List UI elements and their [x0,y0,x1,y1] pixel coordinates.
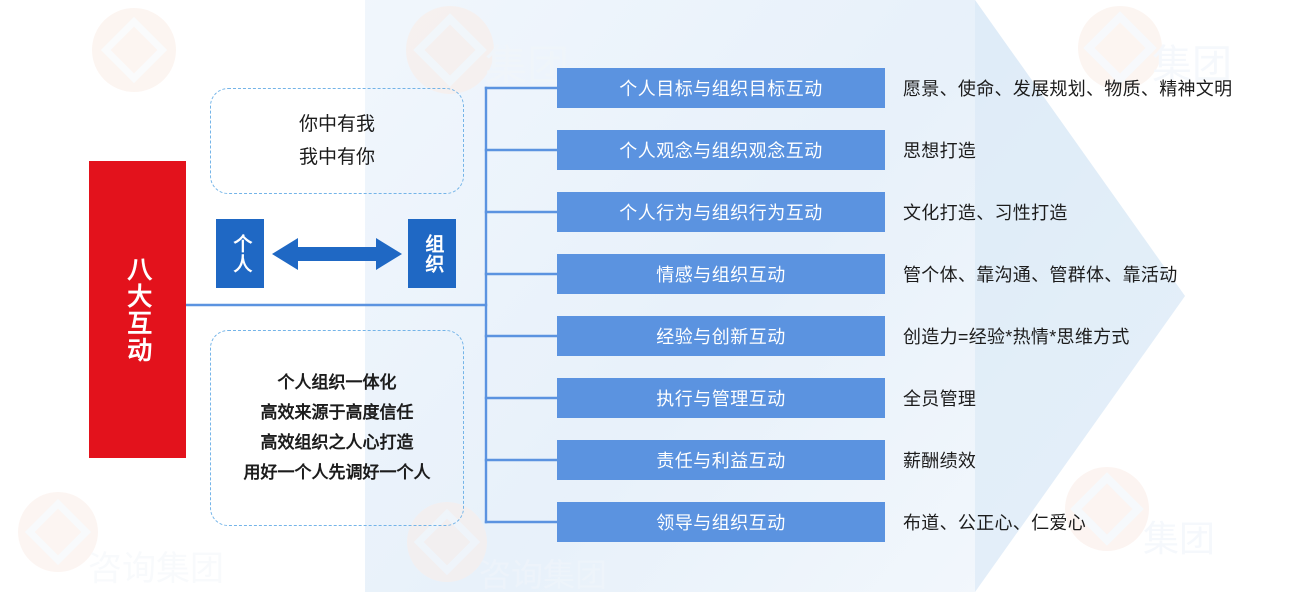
bottom-note-line-3: 高效组织之人心打造 [244,428,431,458]
entity-org-label: 组织 [421,234,444,274]
watermark-bottom-right: 集团 [1055,455,1300,605]
interaction-bar-5[interactable]: 经验与创新互动 [557,316,885,356]
interaction-bar-label: 个人行为与组织行为互动 [619,199,823,225]
svg-text:集团: 集团 [1143,518,1215,559]
interaction-note-6: 全员管理 [903,378,976,418]
interaction-bar-8[interactable]: 领导与组织互动 [557,502,885,542]
bottom-note-line-1: 个人组织一体化 [244,368,431,398]
interaction-note-3: 文化打造、习性打造 [903,192,1068,232]
interaction-bar-label: 领导与组织互动 [656,509,786,535]
interaction-bar-2[interactable]: 个人观念与组织观念互动 [557,130,885,170]
entity-person-box: 个人 [216,219,264,288]
interaction-bar-1[interactable]: 个人目标与组织目标互动 [557,68,885,108]
double-arrow-icon [272,236,402,272]
bottom-note-line-4: 用好一个人先调好一个人 [244,458,431,488]
interaction-bar-label: 执行与管理互动 [656,385,786,411]
interaction-bar-label: 责任与利益互动 [656,447,786,473]
interaction-note-8: 布道、公正心、仁爱心 [903,502,1086,542]
top-note-line-1: 你中有我 [299,108,375,141]
main-title-text: 八大互动 [122,256,153,364]
interaction-note-4: 管个体、靠沟通、管群体、靠活动 [903,254,1178,294]
interaction-bar-label: 情感与组织互动 [656,261,786,287]
interaction-bar-6[interactable]: 执行与管理互动 [557,378,885,418]
main-title-block: 八大互动 [89,161,186,458]
bottom-note-line-2: 高效来源于高度信任 [244,398,431,428]
interaction-bar-3[interactable]: 个人行为与组织行为互动 [557,192,885,232]
bottom-note-text: 个人组织一体化 高效来源于高度信任 高效组织之人心打造 用好一个人先调好一个人 [244,368,431,489]
watermark-top-left [88,4,208,124]
diagram-canvas: 集团 集团 咨询集团 咨询集团 集团 [0,0,1300,608]
interaction-note-7: 薪酬绩效 [903,440,976,480]
top-note-line-2: 我中有你 [299,141,375,174]
interaction-note-5: 创造力=经验*热情*思维方式 [903,316,1130,356]
interaction-bar-label: 经验与创新互动 [656,323,786,349]
bottom-note-box: 个人组织一体化 高效来源于高度信任 高效组织之人心打造 用好一个人先调好一个人 [210,330,464,526]
interaction-bar-label: 个人观念与组织观念互动 [619,137,823,163]
top-note-box: 你中有我 我中有你 [210,88,464,194]
interaction-bar-label: 个人目标与组织目标互动 [619,75,823,101]
svg-text:咨询集团: 咨询集团 [479,557,607,593]
entity-org-box: 组织 [408,219,456,288]
interaction-bar-4[interactable]: 情感与组织互动 [557,254,885,294]
interaction-note-1: 愿景、使命、发展规划、物质、精神文明 [903,68,1232,108]
interaction-note-2: 思想打造 [903,130,976,170]
top-note-text: 你中有我 我中有你 [299,108,375,175]
entity-person-label: 个人 [229,234,252,274]
interaction-bar-7[interactable]: 责任与利益互动 [557,440,885,480]
svg-text:咨询集团: 咨询集团 [88,550,224,588]
